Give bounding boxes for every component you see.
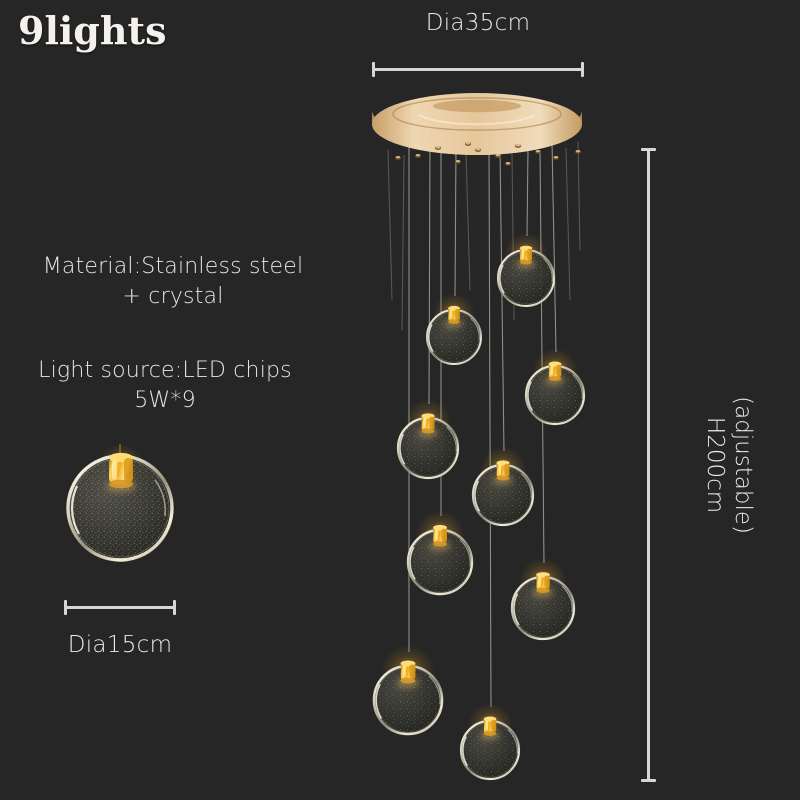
height-label-line2: H200cm bbox=[701, 396, 729, 534]
height-label-wrap: (adjustable) H200cm bbox=[660, 148, 740, 782]
spec-light-source: Light source:LED chips 5W*9 bbox=[0, 356, 330, 416]
pendant-4 bbox=[398, 399, 458, 478]
rule-cap-bottom bbox=[641, 779, 656, 782]
rule-line bbox=[647, 148, 650, 782]
ceiling-canopy bbox=[372, 93, 582, 166]
rule-line bbox=[64, 606, 176, 609]
rule-line bbox=[372, 68, 584, 71]
rule-cap-right bbox=[173, 600, 176, 615]
pendant-group bbox=[374, 233, 584, 779]
canopy-diameter-label: Dia35cm bbox=[372, 10, 584, 36]
spec-material: Material:Stainless steel + crystal bbox=[8, 252, 338, 312]
pendant-1 bbox=[498, 233, 554, 306]
pendant-2 bbox=[427, 293, 481, 364]
sample-pendant-illustration bbox=[55, 440, 195, 590]
shade-diameter-rule bbox=[64, 600, 176, 614]
pendant-8 bbox=[374, 645, 442, 734]
suspension-cables bbox=[388, 142, 580, 707]
pendant-5 bbox=[473, 446, 533, 525]
pendant-6 bbox=[408, 510, 472, 594]
height-rule bbox=[641, 148, 655, 782]
shade-diameter-label: Dia15cm bbox=[50, 632, 190, 658]
brand-wordmark: 9lights bbox=[18, 8, 166, 53]
height-label: (adjustable) H200cm bbox=[701, 396, 757, 534]
pendant-7 bbox=[512, 558, 574, 639]
height-label-line1: (adjustable) bbox=[729, 396, 757, 534]
product-spec-diagram: 9lights bbox=[0, 0, 800, 800]
pendant-9 bbox=[461, 703, 519, 779]
pendant-3 bbox=[526, 348, 584, 424]
canopy-diameter-rule bbox=[372, 62, 584, 76]
rule-cap-right bbox=[581, 62, 584, 77]
